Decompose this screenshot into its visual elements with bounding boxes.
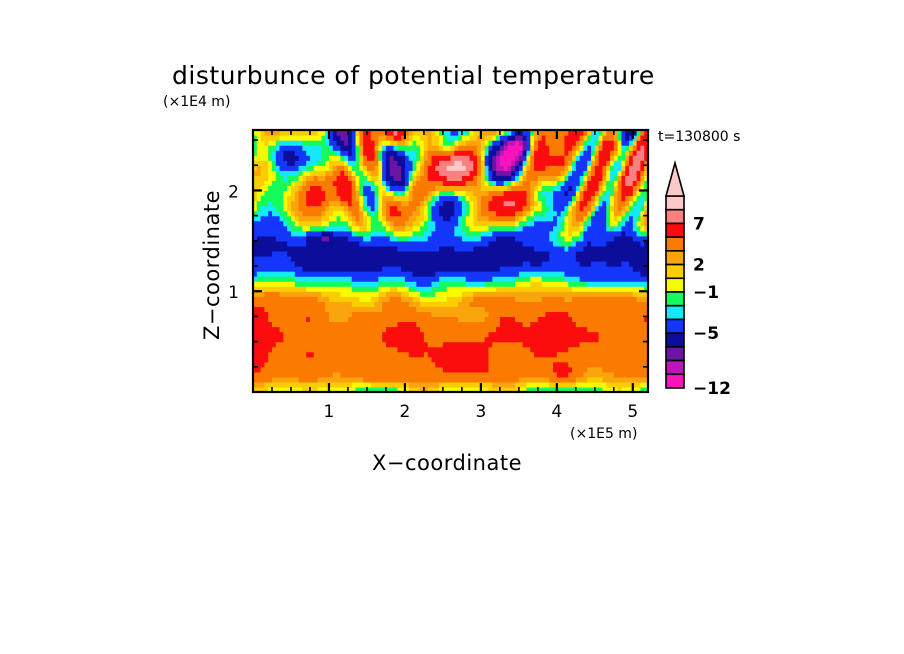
colorbar-swatch [666, 292, 684, 306]
plot-title: disturbunce of potential temperature [172, 61, 655, 90]
time-label: t=130800 s [658, 129, 740, 145]
x-axis-title: X−coordinate [372, 451, 522, 475]
colorbar-swatch [666, 237, 684, 251]
contour-figure: disturbunce of potential temperature (×1… [0, 0, 904, 654]
x-tick-label: 3 [475, 402, 486, 422]
y-axis-title: Z−coordinate [200, 190, 224, 340]
colorbar-swatch [666, 278, 684, 292]
colorbar-label: −1 [693, 283, 719, 303]
colorbar-swatch [666, 223, 684, 237]
colorbar-swatch [666, 265, 684, 279]
x-tick-label: 4 [551, 402, 562, 422]
colorbar-label: 2 [693, 256, 705, 276]
colorbar-swatch [666, 374, 684, 388]
colorbar-label: 7 [693, 214, 705, 234]
colorbar-swatch [666, 319, 684, 333]
x-units-annotation: (×1E5 m) [570, 426, 637, 442]
colorbar-swatch [666, 306, 684, 320]
y-tick-label: 2 [228, 182, 239, 202]
x-tick-label: 1 [324, 402, 335, 422]
x-tick-label: 2 [400, 402, 411, 422]
colorbar-label: −5 [693, 324, 719, 344]
colorbar-swatch [666, 196, 684, 210]
colorbar-swatch [666, 361, 684, 375]
y-tick-label: 1 [228, 283, 239, 303]
colorbar-swatch [666, 210, 684, 224]
y-units-annotation: (×1E4 m) [163, 94, 230, 110]
colorbar-swatch [666, 333, 684, 347]
x-tick-label: 5 [627, 402, 638, 422]
colorbar-swatch [666, 347, 684, 361]
colorbar-swatch [666, 251, 684, 265]
colorbar-label: −12 [693, 379, 731, 399]
contour-field [253, 130, 649, 393]
